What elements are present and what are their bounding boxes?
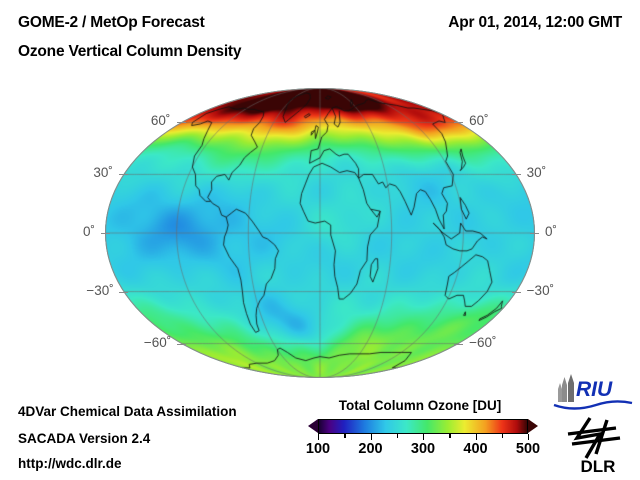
colorbar-gradient-box [318, 419, 528, 434]
riu-logo-text: RIU [576, 378, 613, 401]
colorbar-minor-tick [449, 434, 450, 438]
footer-line-version: SACADA Version 2.4 [18, 431, 150, 446]
latitude-tick [101, 233, 110, 234]
latitude-tick [512, 174, 521, 175]
latitude-label: −30˚ [86, 283, 113, 298]
latitude-tick [177, 344, 186, 345]
colorbar-cap-high [528, 419, 538, 433]
latitude-tick [512, 292, 521, 293]
latitude-label: −60˚ [469, 335, 496, 350]
footer-line-url: http://wdc.dlr.de [18, 456, 122, 471]
latitude-tick [530, 233, 539, 234]
colorbar-cap-low [308, 419, 318, 433]
colorbar-gradient [319, 420, 527, 433]
latitude-tick [177, 122, 186, 123]
colorbar-major-tick [318, 434, 319, 440]
colorbar-major-tick [476, 434, 477, 440]
latitude-label: 60˚ [151, 113, 171, 128]
latitude-label: 0˚ [545, 224, 557, 239]
latitude-label: 30˚ [527, 165, 547, 180]
dlr-emblem-icon [568, 418, 620, 458]
colorbar-tick-label: 300 [411, 441, 435, 457]
colorbar-tick-label: 400 [463, 441, 487, 457]
colorbar-title: Total Column Ozone [DU] [300, 398, 540, 413]
colorbar-minor-tick [502, 434, 503, 438]
page-title-instrument: GOME-2 / MetOp Forecast [18, 14, 205, 32]
latitude-tick [119, 174, 128, 175]
colorbar-tick-labels: 100200300400500 [300, 441, 540, 461]
dlr-logo: DLR [560, 414, 636, 476]
colorbar-minor-tick [397, 434, 398, 438]
latitude-tick [119, 292, 128, 293]
colorbar: Total Column Ozone [DU] 100200300400500 [300, 398, 540, 468]
colorbar-tick-label: 200 [358, 441, 382, 457]
page-title-product: Ozone Vertical Column Density [18, 43, 241, 61]
footer-line-assimilation: 4DVar Chemical Data Assimilation [18, 404, 237, 419]
riu-spires-icon [558, 374, 574, 402]
colorbar-ticks [318, 434, 528, 440]
colorbar-major-tick [528, 434, 529, 440]
riu-logo: RIU [552, 372, 634, 412]
dlr-logo-text: DLR [581, 457, 616, 476]
latitude-label: −60˚ [144, 335, 171, 350]
latitude-tick [454, 122, 463, 123]
latitude-label: 0˚ [83, 224, 95, 239]
forecast-datetime: Apr 01, 2014, 12:00 GMT [448, 14, 622, 32]
latitude-label: 60˚ [469, 113, 489, 128]
latitude-tick [454, 344, 463, 345]
colorbar-major-tick [423, 434, 424, 440]
colorbar-major-tick [371, 434, 372, 440]
colorbar-minor-tick [344, 434, 345, 438]
latitude-label: 30˚ [93, 165, 113, 180]
riu-wave-icon [554, 401, 632, 408]
colorbar-tick-label: 100 [306, 441, 330, 457]
colorbar-tick-label: 500 [516, 441, 540, 457]
latitude-label: −30˚ [527, 283, 554, 298]
